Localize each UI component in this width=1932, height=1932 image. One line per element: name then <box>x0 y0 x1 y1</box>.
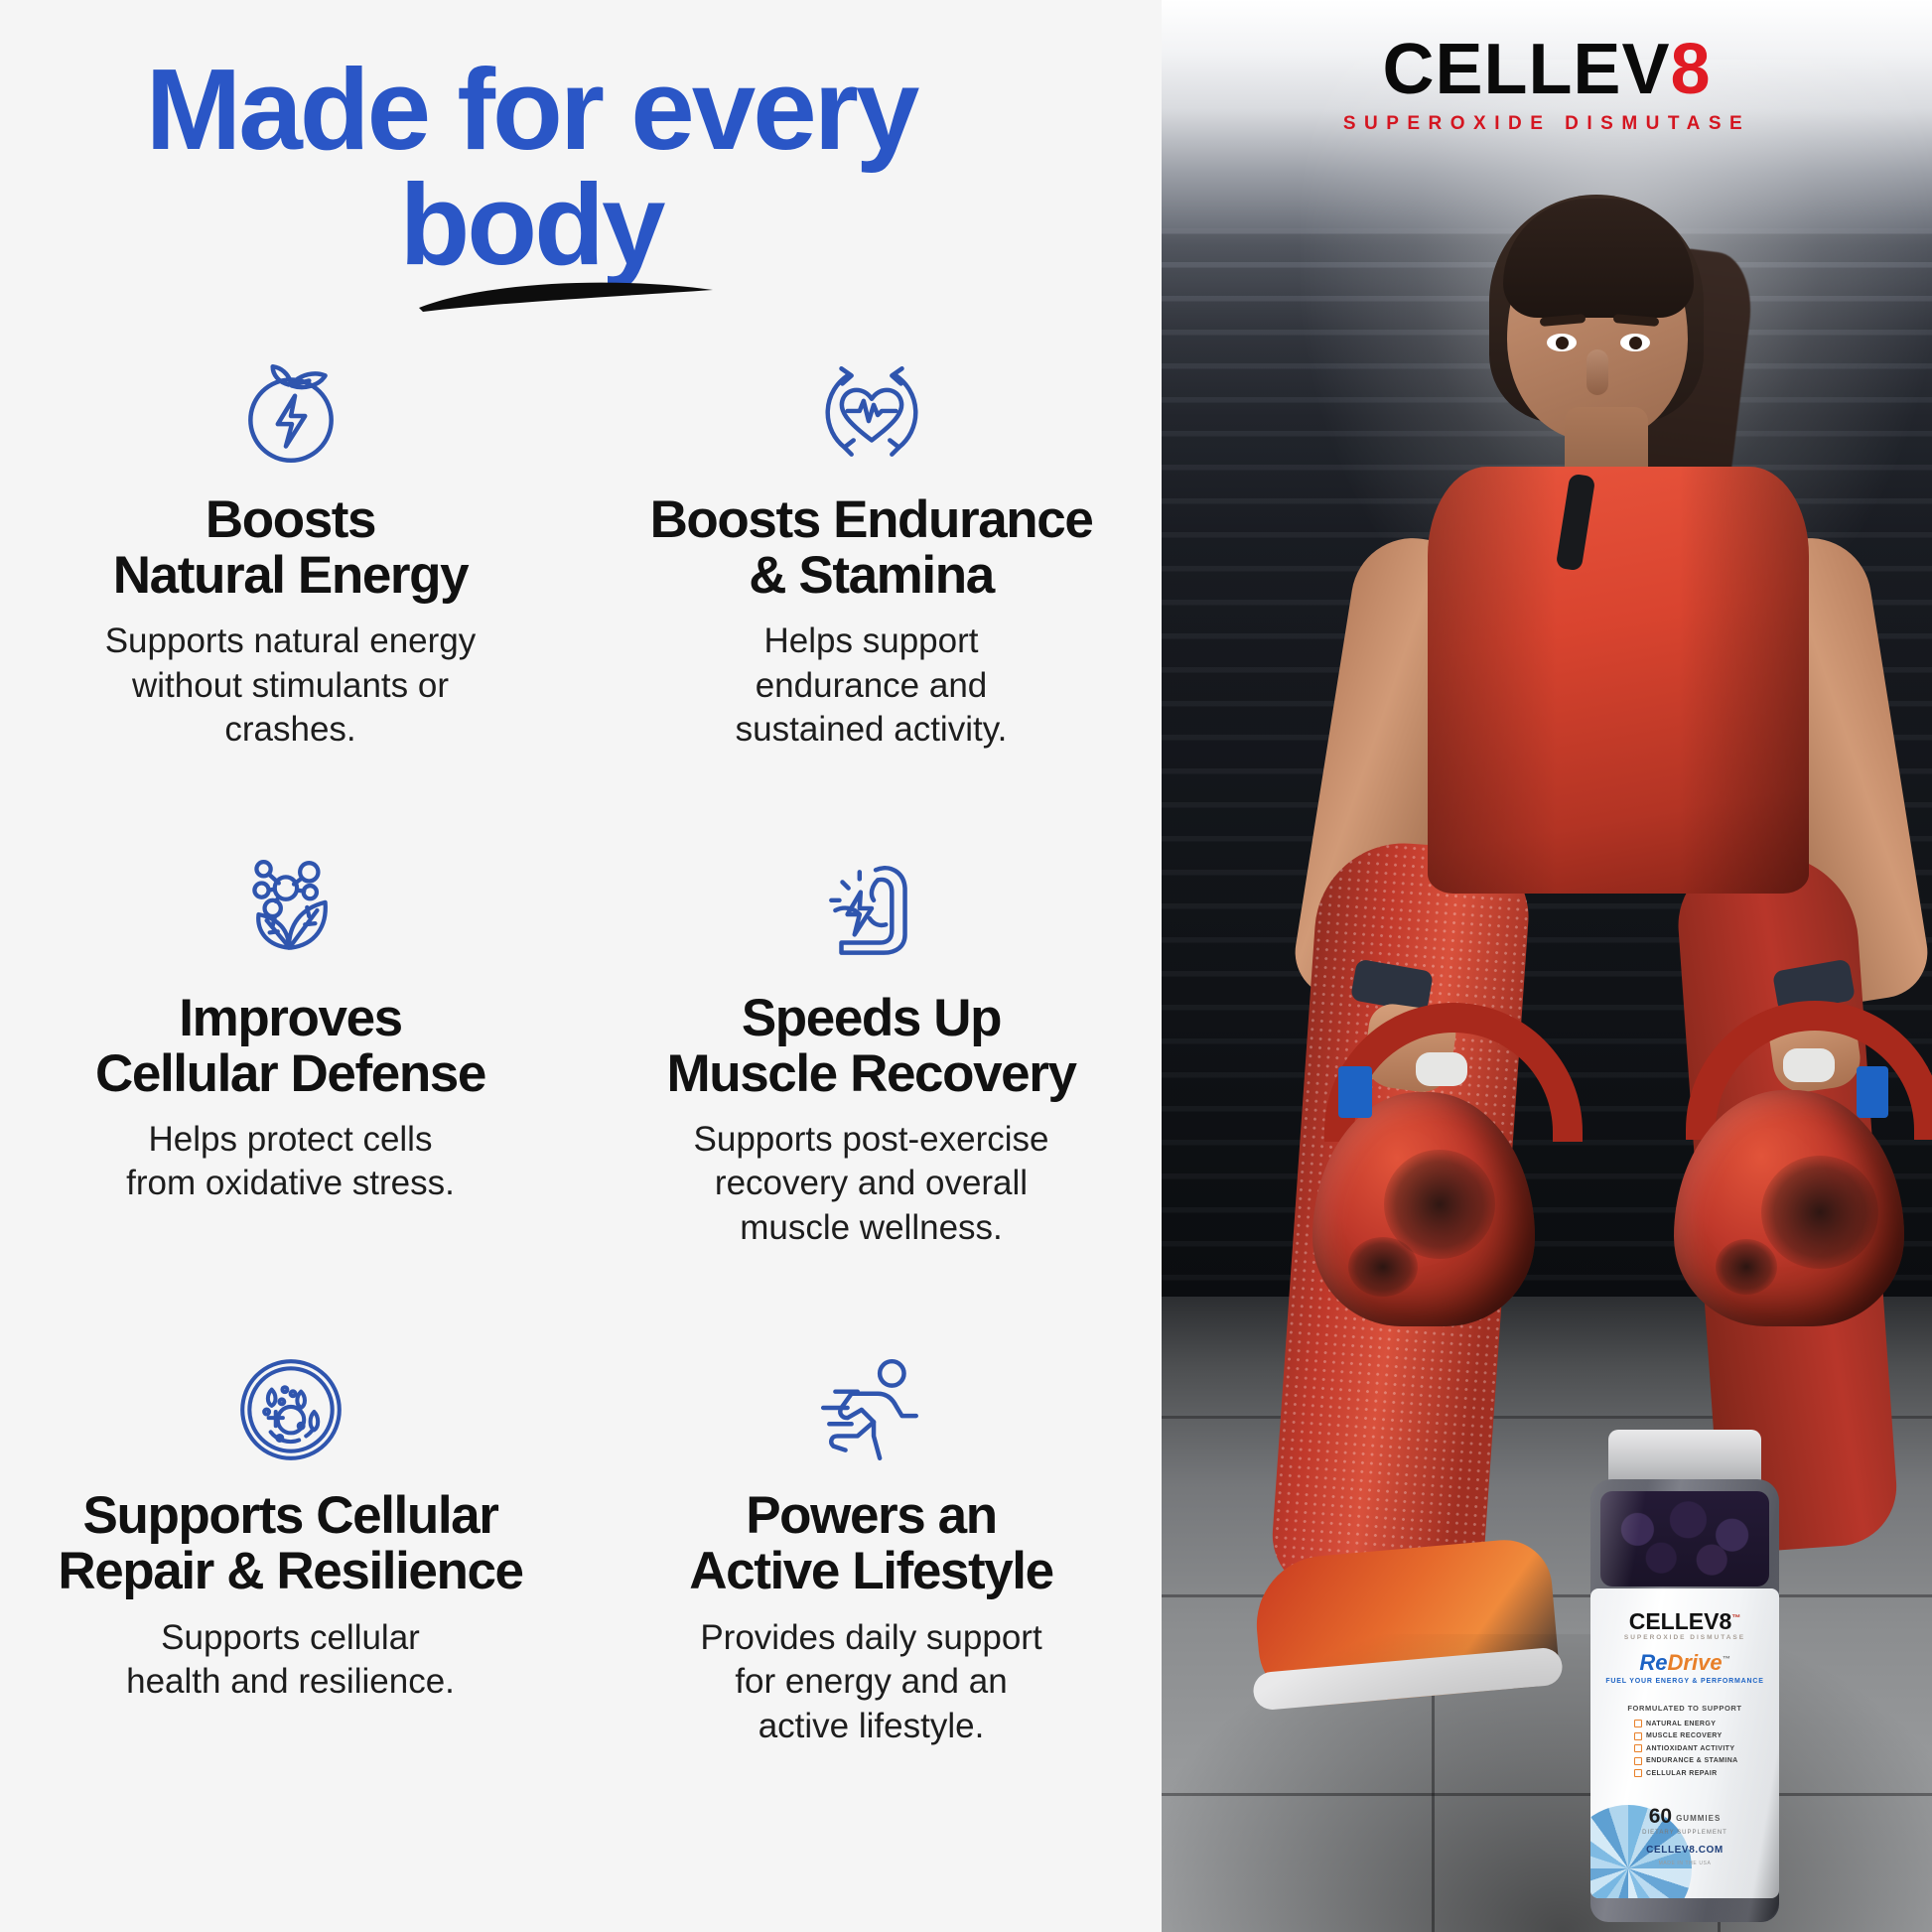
benefit-description: Provides daily support for energy and an… <box>603 1616 1140 1748</box>
headline-block: Made for every body <box>0 52 1062 282</box>
cell-nucleus-icon <box>22 1345 559 1474</box>
bottle-tagline: FUEL YOUR ENERGY & PERFORMANCE <box>1590 1678 1779 1685</box>
tank-top-shading <box>1428 467 1809 894</box>
benefit-description: Supports cellular health and resilience. <box>22 1616 559 1705</box>
check-box-icon <box>1634 1732 1642 1740</box>
bottle-made-in: MADE IN THE USA <box>1590 1861 1779 1866</box>
bottle-benefit-label: ANTIOXIDANT ACTIVITY <box>1646 1745 1734 1752</box>
running-person-icon <box>603 1345 1140 1474</box>
gummies-inside <box>1600 1491 1769 1587</box>
flexed-bicep-bolt-icon <box>603 848 1140 977</box>
bottle-count-number: 60 <box>1649 1805 1672 1828</box>
bottle-count-unit: GUMMIES <box>1676 1814 1721 1823</box>
bottle-benefit-item: CELLULAR REPAIR <box>1634 1769 1773 1777</box>
benefit-card-boosts-natural-energy: Boosts Natural Energy Supports natural e… <box>0 349 581 753</box>
bottle-website: CELLEV8.COM <box>1590 1845 1779 1856</box>
benefit-description: Helps support endurance and sustained ac… <box>603 620 1140 752</box>
nose <box>1587 349 1608 395</box>
brand-logo: CELLEV8 SUPEROXIDE DISMUTASE <box>1162 0 1932 169</box>
bottle-cap <box>1608 1430 1761 1485</box>
benefit-title: Boosts Natural Energy <box>22 492 559 604</box>
headline-line-1: Made for every <box>0 52 1062 167</box>
bottle-supplement-line: DIETARY SUPPLEMENT <box>1590 1830 1779 1836</box>
kettlebell-left <box>1289 1003 1567 1340</box>
check-box-icon <box>1634 1757 1642 1765</box>
bottle-formulated-heading: FORMULATED TO SUPPORT <box>1590 1704 1779 1713</box>
benefit-card-boosts-endurance-stamina: Boosts Endurance & Stamina Helps support… <box>581 349 1162 753</box>
benefit-title: Improves Cellular Defense <box>22 991 559 1102</box>
check-box-icon <box>1634 1769 1642 1777</box>
bottle-benefit-label: ENDURANCE & STAMINA <box>1646 1757 1738 1764</box>
benefits-row-2: Improves Cellular Defense Helps protect … <box>0 848 1162 1251</box>
bottle-benefit-label: MUSCLE RECOVERY <box>1646 1732 1723 1739</box>
bottle-product-name: ReDrive™ <box>1590 1650 1779 1676</box>
floor-shadow <box>1162 1634 1932 1932</box>
benefit-title: Powers an Active Lifestyle <box>603 1488 1140 1599</box>
benefit-title: Speeds Up Muscle Recovery <box>603 991 1140 1102</box>
marketing-poster: Made for every body <box>0 0 1932 1932</box>
brand-logo-accent: 8 <box>1670 30 1711 109</box>
brand-logo-tagline: SUPEROXIDE DISMUTASE <box>1343 113 1750 135</box>
headline-line-2: body <box>0 167 1062 282</box>
benefit-description: Helps protect cells from oxidative stres… <box>22 1118 559 1206</box>
benefits-panel: Made for every body <box>0 0 1162 1932</box>
eye-left <box>1547 334 1577 351</box>
benefit-card-powers-active-lifestyle: Powers an Active Lifestyle Provides dail… <box>581 1345 1162 1748</box>
benefit-title: Supports Cellular Repair & Resilience <box>22 1488 559 1599</box>
product-bottle: CELLEV8™ SUPEROXIDE DISMUTASE ReDrive™ F… <box>1579 1430 1791 1926</box>
kettlebell-right <box>1644 1001 1932 1338</box>
eye-right <box>1620 334 1650 351</box>
bottle-brand-accent: 8 <box>1719 1608 1731 1634</box>
heart-pulse-recycle-icon <box>603 349 1140 479</box>
benefits-row-3: Supports Cellular Repair & Resilience Su… <box>0 1345 1162 1748</box>
benefit-description: Supports natural energy without stimulan… <box>22 620 559 752</box>
athlete-photo: CELLEV8™ SUPEROXIDE DISMUTASE ReDrive™ F… <box>1162 0 1932 1932</box>
bottle-brand: CELLEV8™ <box>1590 1608 1779 1635</box>
check-box-icon <box>1634 1744 1642 1752</box>
product-name-re: Re <box>1639 1650 1667 1675</box>
bottle-benefit-label: CELLULAR REPAIR <box>1646 1770 1718 1777</box>
benefit-description: Supports post-exercise recovery and over… <box>603 1118 1140 1250</box>
bottle-benefit-item: MUSCLE RECOVERY <box>1634 1732 1773 1740</box>
benefit-card-supports-cellular-repair: Supports Cellular Repair & Resilience Su… <box>0 1345 581 1748</box>
bottle-label: CELLEV8™ SUPEROXIDE DISMUTASE ReDrive™ F… <box>1590 1588 1779 1898</box>
benefit-card-improves-cellular-defense: Improves Cellular Defense Helps protect … <box>0 848 581 1251</box>
bottle-benefit-item: ENDURANCE & STAMINA <box>1634 1757 1773 1765</box>
bottle-brand-tm: ™ <box>1731 1612 1740 1622</box>
benefits-grid: Boosts Natural Energy Supports natural e… <box>0 349 1162 1748</box>
bottle-benefit-label: NATURAL ENERGY <box>1646 1721 1716 1727</box>
benefits-row-1: Boosts Natural Energy Supports natural e… <box>0 349 1162 753</box>
brand-logo-wordmark: CELLEV8 <box>1382 34 1711 105</box>
brand-logo-main: CELLEV <box>1382 30 1670 109</box>
product-name-drive: Drive <box>1668 1650 1723 1675</box>
energy-apple-bolt-icon <box>22 349 559 479</box>
check-box-icon <box>1634 1720 1642 1727</box>
molecule-leaf-icon <box>22 848 559 977</box>
bottle-benefit-item: ANTIOXIDANT ACTIVITY <box>1634 1744 1773 1752</box>
product-name-tm: ™ <box>1723 1655 1730 1664</box>
benefit-card-speeds-up-muscle-recovery: Speeds Up Muscle Recovery Supports post-… <box>581 848 1162 1251</box>
bottle-brand-subtitle: SUPEROXIDE DISMUTASE <box>1590 1634 1779 1641</box>
bottle-benefit-list: NATURAL ENERGY MUSCLE RECOVERY ANTIOXIDA… <box>1634 1720 1773 1782</box>
bottle-count: 60GUMMIES <box>1590 1805 1779 1829</box>
bottle-benefit-item: NATURAL ENERGY <box>1634 1720 1773 1727</box>
bottle-brand-main: CELLEV <box>1629 1608 1720 1634</box>
benefit-title: Boosts Endurance & Stamina <box>603 492 1140 604</box>
